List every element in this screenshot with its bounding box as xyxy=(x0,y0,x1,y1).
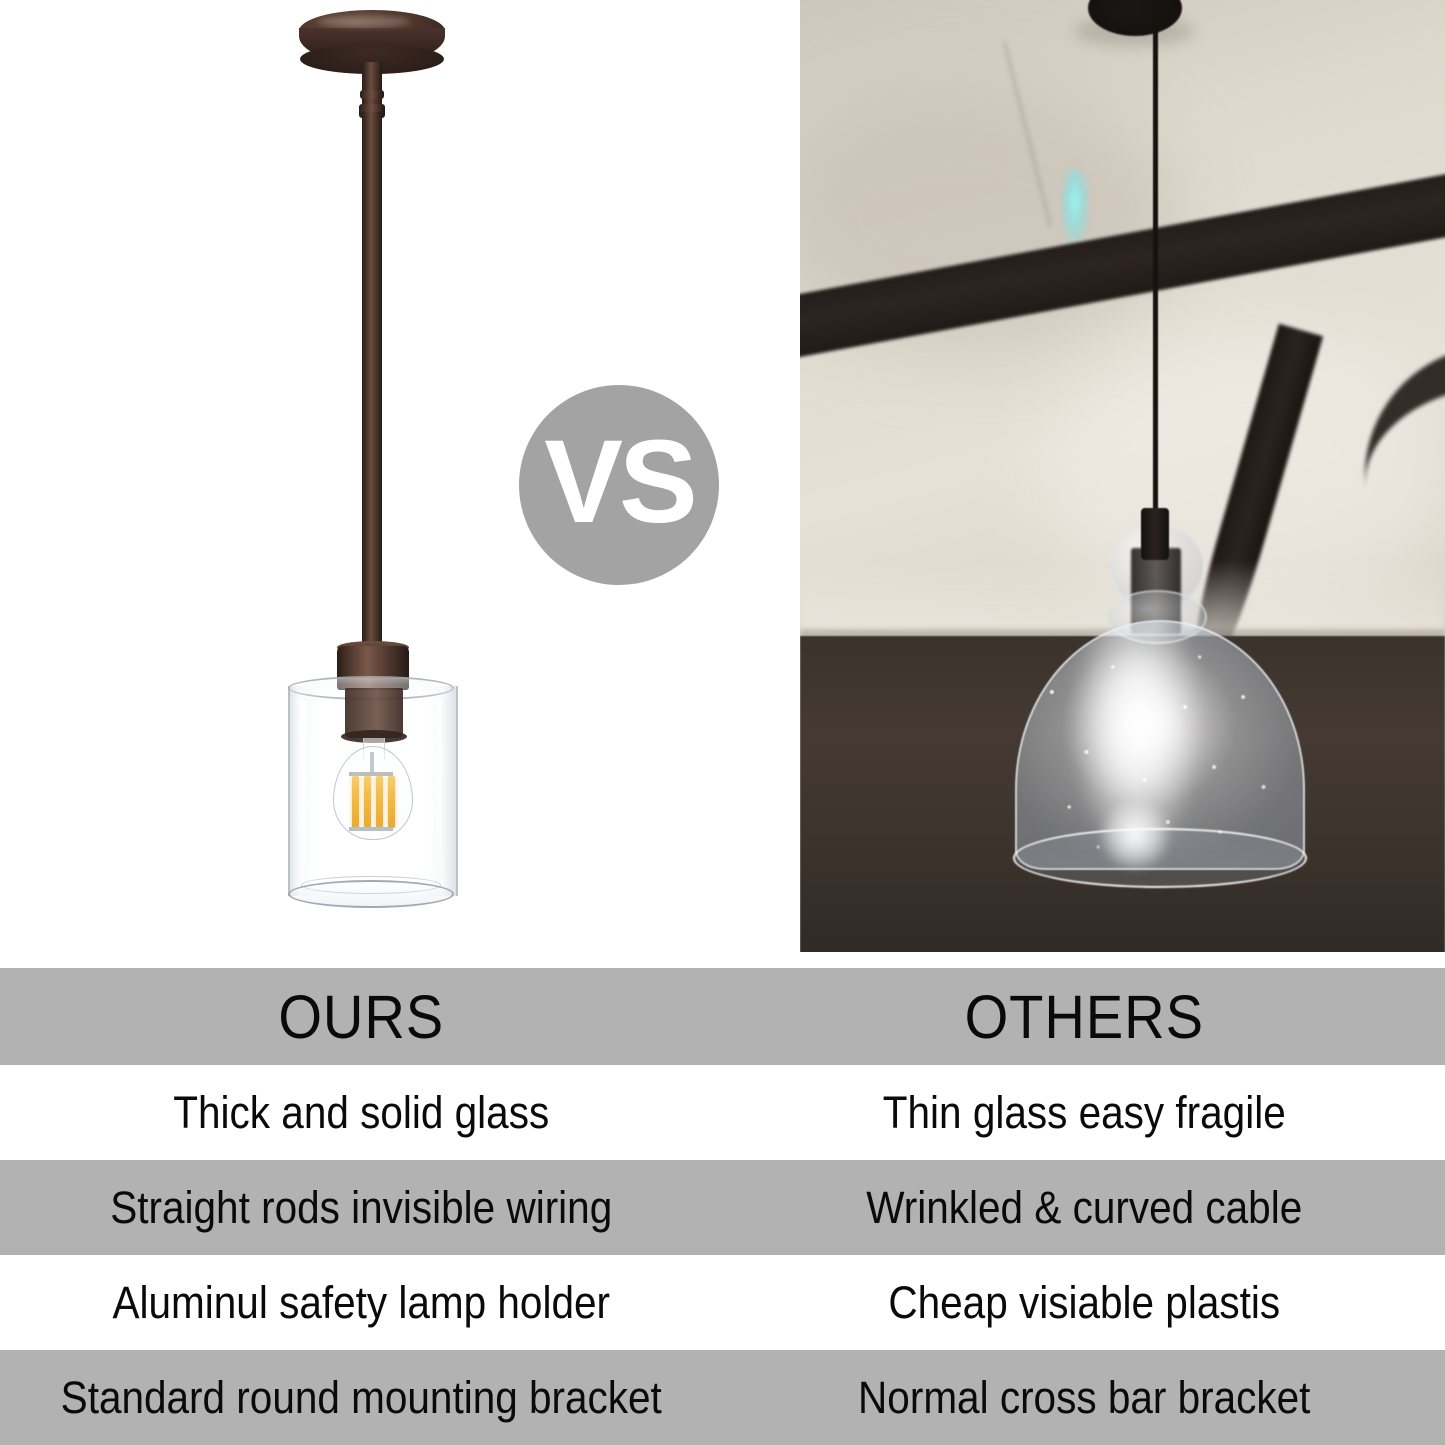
filament-strip xyxy=(388,776,395,828)
comparison-row: Straight rods invisible wiring Wrinkled … xyxy=(0,1160,1445,1255)
others-feature: Cheap visiable plastis xyxy=(759,1255,1409,1350)
ours-feature: Aluminul safety lamp holder xyxy=(36,1255,686,1350)
black-lamp-socket xyxy=(1141,508,1169,560)
hanging-cable xyxy=(1153,6,1158,520)
column-header-ours: OURS xyxy=(29,968,694,1065)
others-feature: Wrinkled & curved cable xyxy=(759,1160,1409,1255)
others-feature: Thin glass easy fragile xyxy=(759,1065,1409,1160)
filament-strip xyxy=(364,776,371,828)
vs-badge: VS xyxy=(519,385,719,585)
hero-image-area: VS xyxy=(0,0,1445,968)
glass-highlight-right xyxy=(436,700,442,875)
comparison-row: Standard round mounting bracket Normal c… xyxy=(0,1350,1445,1445)
glass-shade-bottom-rim xyxy=(288,880,454,908)
bulb-hotspot xyxy=(1100,800,1170,870)
downrod-joint-upper xyxy=(360,90,384,99)
product-comparison-page: VS xyxy=(0,0,1445,1445)
comparison-row: Aluminul safety lamp holder Cheap visiab… xyxy=(0,1255,1445,1350)
comparison-header-row: OURS OTHERS xyxy=(0,968,1445,1065)
comparison-row: Thick and solid glass Thin glass easy fr… xyxy=(0,1065,1445,1160)
downrod-lower-segment xyxy=(362,112,382,658)
ours-feature: Thick and solid glass xyxy=(36,1065,686,1160)
canopy-highlight xyxy=(318,16,410,27)
cyan-light-reflection xyxy=(1062,170,1088,242)
vs-badge-label: VS xyxy=(544,423,693,541)
glass-highlight-left xyxy=(300,700,307,880)
column-header-others: OTHERS xyxy=(751,968,1416,1065)
ours-feature: Standard round mounting bracket xyxy=(36,1350,686,1445)
filament-strip xyxy=(376,776,383,828)
comparison-table: OURS OTHERS Thick and solid glass Thin g… xyxy=(0,968,1445,1445)
ours-feature: Straight rods invisible wiring xyxy=(36,1160,686,1255)
others-product-photo xyxy=(800,0,1445,952)
filament-strip xyxy=(352,776,359,828)
filament-bar-bottom xyxy=(349,827,393,831)
others-feature: Normal cross bar bracket xyxy=(759,1350,1409,1445)
